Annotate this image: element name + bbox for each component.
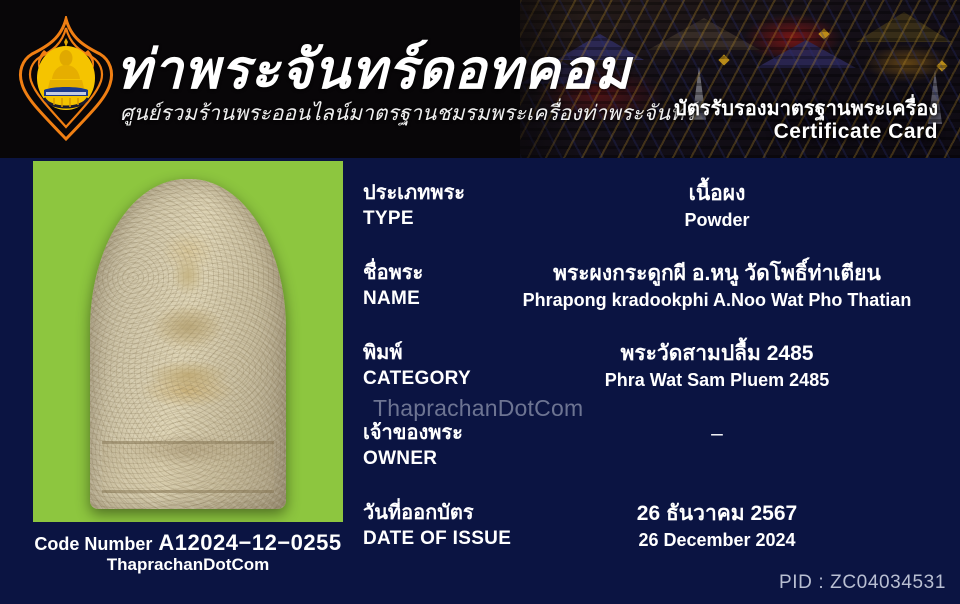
- code-number-label: Code Number: [34, 534, 152, 554]
- field-value-en: 26 December 2024: [482, 527, 952, 553]
- field-value-group: –: [482, 420, 952, 447]
- field-name: ชื่อพระ NAME พระผงกระดูกผี อ.หนู วัดโพธิ…: [352, 260, 952, 340]
- field-value-th: –: [482, 420, 952, 447]
- field-value-th: 26 ธันวาคม 2567: [482, 500, 952, 527]
- field-value-group: 26 ธันวาคม 2567 26 December 2024: [482, 500, 952, 553]
- brand-subtitle: ศูนย์รวมร้านพระออนไลน์มาตรฐานชมรมพระเครื…: [120, 97, 695, 130]
- temple-roof-shape: [648, 18, 760, 50]
- certificate-card: ท่าพระจันทร์ดอทคอม ศูนย์รวมร้านพระออนไลน…: [0, 0, 960, 604]
- field-category: พิมพ์ CATEGORY พระวัดสามปลื้ม 2485 Phra …: [352, 340, 952, 420]
- field-value-group: เนื้อผง Powder: [482, 180, 952, 233]
- field-value-group: พระผงกระดูกผี อ.หนู วัดโพธิ์ท่าเตียน Phr…: [482, 260, 952, 313]
- pid-text: PID : ZC04034531: [779, 572, 946, 594]
- amulet-object: [90, 179, 286, 509]
- gold-ornament-icon: [818, 28, 829, 39]
- field-value-th: เนื้อผง: [482, 180, 952, 207]
- buddha-emblem-icon: [14, 16, 118, 142]
- gold-ornament-icon: [936, 60, 947, 71]
- temple-roof-shape: [856, 12, 952, 42]
- temple-roof-shape: [756, 40, 856, 68]
- gold-ornament-icon: [718, 54, 729, 65]
- field-type: ประเภทพระ TYPE เนื้อผง Powder: [352, 180, 952, 260]
- field-value-en: Phrapong kradookphi A.Noo Wat Pho Thatia…: [482, 287, 952, 313]
- buddha-relief-figure: [136, 253, 240, 413]
- field-value-en: Phra Wat Sam Pluem 2485: [482, 367, 952, 393]
- photo-site-label: ThaprachanDotCom: [33, 555, 343, 575]
- card-header: ท่าพระจันทร์ดอทคอม ศูนย์รวมร้านพระออนไลน…: [0, 0, 960, 158]
- code-number-line: Code NumberA12024−12−0255: [33, 530, 343, 556]
- field-label-en: OWNER: [363, 446, 533, 472]
- amulet-photo: [33, 161, 343, 522]
- field-date-of-issue: วันที่ออกบัตร DATE OF ISSUE 26 ธันวาคม 2…: [352, 500, 952, 580]
- certificate-title-en: Certificate Card: [774, 120, 938, 144]
- field-owner: เจ้าของพระ OWNER –: [352, 420, 952, 500]
- field-value-group: พระวัดสามปลื้ม 2485 Phra Wat Sam Pluem 2…: [482, 340, 952, 393]
- field-list: ประเภทพระ TYPE เนื้อผง Powder ชื่อพระ NA…: [352, 180, 952, 580]
- code-number-value: A12024−12−0255: [158, 530, 341, 555]
- field-value-th: พระผงกระดูกผี อ.หนู วัดโพธิ์ท่าเตียน: [482, 260, 952, 287]
- field-value-th: พระวัดสามปลื้ม 2485: [482, 340, 952, 367]
- field-value-en: Powder: [482, 207, 952, 233]
